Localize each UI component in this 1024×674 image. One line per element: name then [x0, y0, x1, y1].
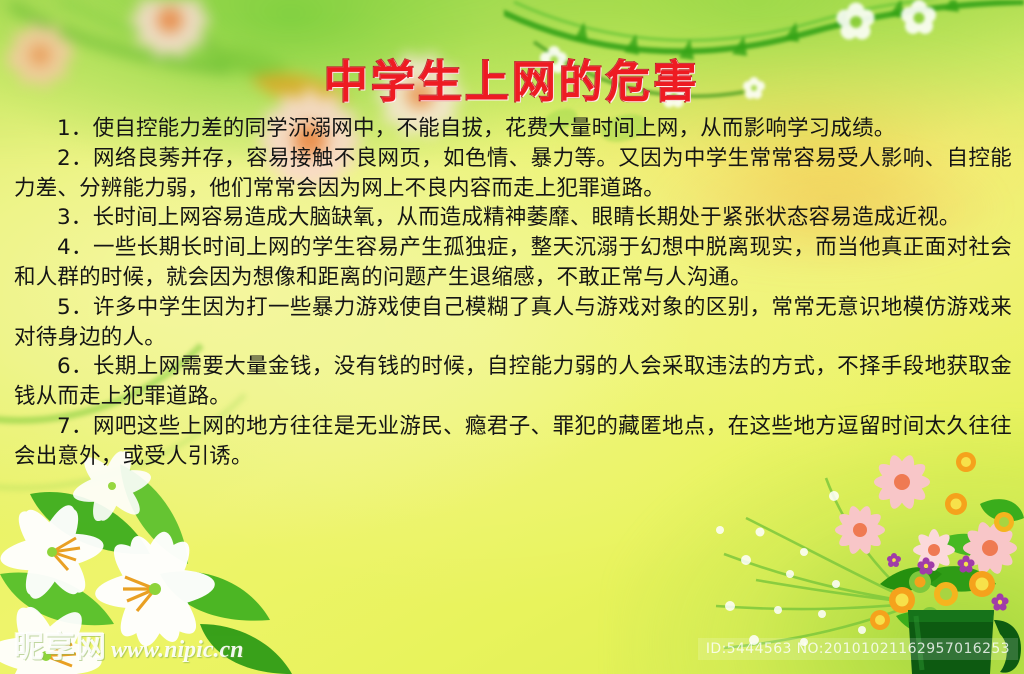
paragraph-1: 1．使自控能力差的同学沉溺网中，不能自拔，花费大量时间上网，从而影响学习成绩。 — [14, 114, 1012, 144]
paragraph-6: 6．长期上网需要大量金钱，没有钱的时候，自控能力弱的人会采取违法的方式，不择手段… — [14, 352, 1012, 412]
page-title: 中学生上网的危害 — [324, 46, 700, 110]
paragraph-4: 4．一些长期长时间上网的学生容易产生孤独症，整天沉溺于幻想中脱离现实，而当他真正… — [14, 233, 1012, 293]
paragraph-5: 5．许多中学生因为打一些暴力游戏使自己模糊了真人与游戏对象的区别，常常无意识地模… — [14, 293, 1012, 353]
paragraph-7: 7．网吧这些上网的地方往往是无业游民、瘾君子、罪犯的藏匿地点，在这些地方逗留时间… — [14, 412, 1012, 472]
paragraph-2: 2．网络良莠并存，容易接触不良网页，如色情、暴力等。又因为中学生常常容易受人影响… — [14, 144, 1012, 204]
paragraph-3: 3．长时间上网容易造成大脑缺氧，从而造成精神萎靡、眼睛长期处于紧张状态容易造成近… — [14, 203, 1012, 233]
poster-canvas: 中学生上网的危害 1．使自控能力差的同学沉溺网中，不能自拔，花费大量时间上网，从… — [0, 0, 1024, 674]
poster-title-container: 中学生上网的危害 — [0, 46, 1024, 110]
poster-body-text: 1．使自控能力差的同学沉溺网中，不能自拔，花费大量时间上网，从而影响学习成绩。 … — [14, 114, 1012, 472]
